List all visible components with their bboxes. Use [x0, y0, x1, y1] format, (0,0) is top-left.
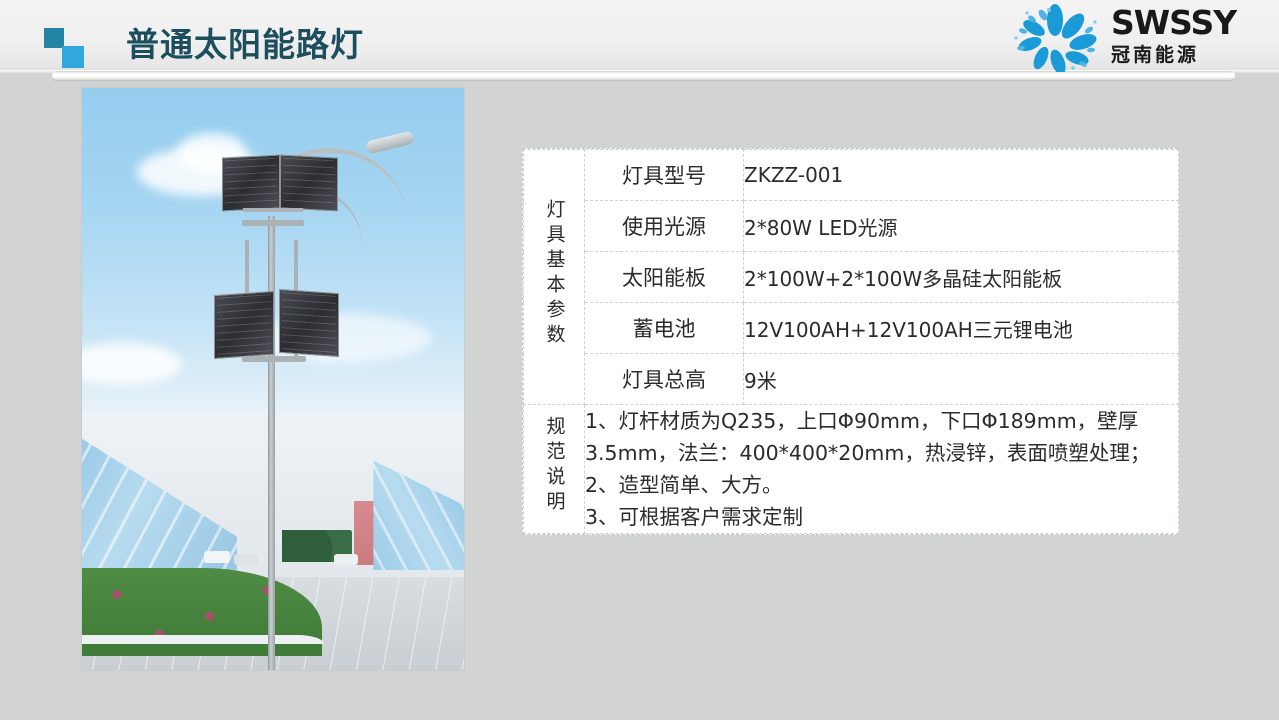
solar-panel [214, 291, 274, 359]
decorative-squares [44, 28, 90, 68]
solar-panel [279, 289, 339, 357]
specification-table: 灯具基本参数 灯具型号 ZKZZ-001 使用光源 2*80W LED光源 太阳… [522, 148, 1178, 535]
spec-key: 使用光源 [585, 201, 744, 252]
table-row: 灯具基本参数 灯具型号 ZKZZ-001 [524, 150, 1179, 201]
solar-panel [280, 154, 338, 211]
title-divider-rule [52, 71, 1235, 80]
spec-note-line: 2、造型简单、大方。 [585, 469, 1178, 501]
spec-value: ZKZZ-001 [744, 150, 1179, 201]
page-title: 普通太阳能路灯 [126, 18, 364, 66]
panel-bracket [242, 356, 306, 362]
decorative-square-light [62, 46, 84, 68]
group-label-spec-notes: 规范说明 [524, 405, 585, 534]
table-row: 使用光源 2*80W LED光源 [524, 201, 1179, 252]
spec-note-line: 1、灯杆材质为Q235，上口Φ90mm，下口Φ189mm，壁厚3.5mm，法兰：… [585, 405, 1178, 469]
lamp-pole [268, 216, 275, 670]
photo-car [204, 551, 230, 563]
table-row-notes: 规范说明 1、灯杆材质为Q235，上口Φ90mm，下口Φ189mm，壁厚3.5m… [524, 405, 1179, 534]
decorative-square-dark [44, 28, 64, 48]
panel-bracket [243, 208, 303, 212]
spec-value: 2*100W+2*100W多晶硅太阳能板 [744, 252, 1179, 303]
spec-note-line: 3、可根据客户需求定制 [585, 501, 1178, 533]
solar-panel [222, 154, 280, 211]
group-label-basic-params: 灯具基本参数 [524, 150, 585, 405]
panel-bracket [242, 220, 304, 226]
table-row: 太阳能板 2*100W+2*100W多晶硅太阳能板 [524, 252, 1179, 303]
spec-value: 9米 [744, 354, 1179, 405]
water-droplet-radial-icon [1003, 4, 1107, 72]
table-row: 灯具总高 9米 [524, 354, 1179, 405]
company-logo: SWSSY 冠南能源 [1003, 2, 1265, 72]
product-photo [82, 88, 464, 670]
spec-key: 蓄电池 [585, 303, 744, 354]
spec-key: 太阳能板 [585, 252, 744, 303]
spec-value: 2*80W LED光源 [744, 201, 1179, 252]
spec-key: 灯具总高 [585, 354, 744, 405]
spec-key: 灯具型号 [585, 150, 744, 201]
photo-car [334, 554, 358, 565]
photo-car [234, 554, 258, 565]
spec-notes-cell: 1、灯杆材质为Q235，上口Φ90mm，下口Φ189mm，壁厚3.5mm，法兰：… [585, 405, 1179, 534]
logo-wordmark: SWSSY 冠南能源 [1111, 6, 1263, 67]
spec-value: 12V100AH+12V100AH三元锂电池 [744, 303, 1179, 354]
logo-brand-name: SWSSY [1111, 6, 1263, 40]
logo-brand-name-cn: 冠南能源 [1111, 43, 1263, 67]
table-row: 蓄电池 12V100AH+12V100AH三元锂电池 [524, 303, 1179, 354]
photo-curb [82, 635, 324, 644]
